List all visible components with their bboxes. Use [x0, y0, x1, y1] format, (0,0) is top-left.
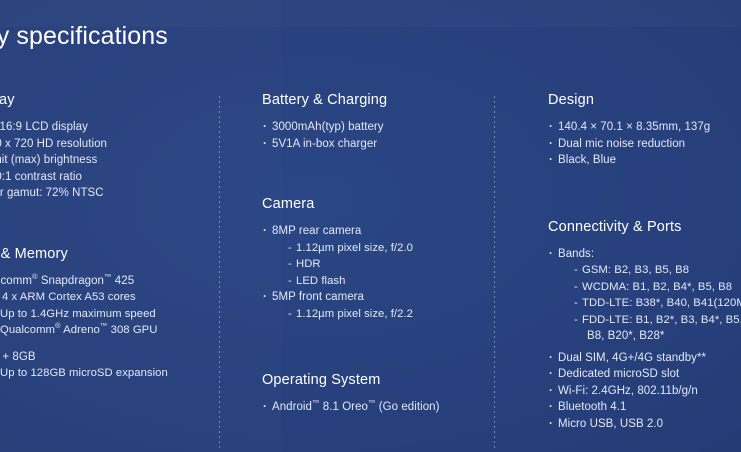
spec-list-chip-memory: Qualcomm® Snapdragon™ 425 4 x ARM Cortex… [0, 273, 212, 382]
specs-columns: Display 5.0" 16:9 LCD display 1280 x 720… [0, 0, 741, 452]
spec-list-design: 140.4 × 70.1 × 8.35mm, 137g Dual mic noi… [548, 119, 741, 169]
list-item: 4 x ARM Cortex A53 cores [0, 289, 212, 306]
spacer [0, 339, 212, 349]
spec-section-display: Display 5.0" 16:9 LCD display 1280 x 720… [0, 92, 212, 202]
section-heading: Operating System [262, 372, 490, 388]
list-item: Micro USB, USB 2.0 [548, 416, 741, 433]
list-item: Up to 1.4GHz maximum speed [0, 306, 212, 323]
section-heading: Display [0, 92, 212, 108]
section-heading: Chip & Memory [0, 246, 212, 262]
list-item: 5.0" 16:9 LCD display [0, 119, 212, 136]
spec-section-design: Design 140.4 × 70.1 × 8.35mm, 137g Dual … [548, 92, 741, 169]
list-item: HDR [262, 256, 490, 273]
list-item: 140.4 × 70.1 × 8.35mm, 137g [548, 119, 741, 136]
list-item: 5MP front camera [262, 289, 490, 306]
list-item: 1GB + 8GB [0, 349, 212, 366]
list-item: LED flash [262, 273, 490, 290]
list-item: 3000mAh(typ) battery [262, 119, 490, 136]
spec-section-operating-system: Operating System Android™ 8.1 Oreo™ (Go … [262, 372, 490, 416]
list-item: Dual SIM, 4G+/4G standby** [548, 350, 741, 367]
list-item: Qualcomm® Snapdragon™ 425 [0, 273, 212, 290]
spec-column-left: Display 5.0" 16:9 LCD display 1280 x 720… [0, 92, 212, 382]
list-item: 1280 x 720 HD resolution [0, 136, 212, 153]
list-item: 1000:1 contrast ratio [0, 169, 212, 186]
spec-list-camera: 8MP rear camera 1.12µm pixel size, f/2.0… [262, 223, 490, 322]
section-heading: Connectivity & Ports [548, 219, 741, 235]
spec-column-middle: Battery & Charging 3000mAh(typ) battery … [262, 92, 490, 416]
spec-list-battery: 3000mAh(typ) battery 5V1A in-box charger [262, 119, 490, 152]
list-item: GSM: B2, B3, B5, B8 [548, 262, 741, 279]
list-item: Bands: [548, 246, 741, 263]
list-item: FDD-LTE: B1, B2*, B3, B4*, B5, B7, [548, 312, 741, 329]
spec-section-connectivity-ports: Connectivity & Ports Bands: GSM: B2, B3,… [548, 219, 741, 433]
list-item: 5V1A in-box charger [262, 136, 490, 153]
list-item: Dual mic noise reduction [548, 136, 741, 153]
spec-section-chip-memory: Chip & Memory Qualcomm® Snapdragon™ 425 … [0, 246, 212, 382]
list-item: Wi-Fi: 2.4GHz, 802.11b/g/n [548, 383, 741, 400]
list-item: Bluetooth 4.1 [548, 399, 741, 416]
list-item: Dedicated microSD slot [548, 366, 741, 383]
list-item: Color gamut: 72% NTSC [0, 185, 212, 202]
list-item: Black, Blue [548, 152, 741, 169]
spec-section-camera: Camera 8MP rear camera 1.12µm pixel size… [262, 196, 490, 322]
list-item: B8, B20*, B28* [548, 328, 741, 345]
spec-list-connectivity: Bands: GSM: B2, B3, B5, B8 WCDMA: B1, B2… [548, 246, 741, 433]
spec-list-display: 5.0" 16:9 LCD display 1280 x 720 HD reso… [0, 119, 212, 202]
list-item: Qualcomm® Adreno™ 308 GPU [0, 322, 212, 339]
section-heading: Battery & Charging [262, 92, 490, 108]
section-heading: Camera [262, 196, 490, 212]
list-item: Up to 128GB microSD expansion [0, 365, 212, 382]
list-item: 1.12µm pixel size, f/2.2 [262, 306, 490, 323]
spec-column-right: Design 140.4 × 70.1 × 8.35mm, 137g Dual … [548, 92, 741, 432]
spec-list-os: Android™ 8.1 Oreo™ (Go edition) [262, 399, 490, 416]
section-heading: Design [548, 92, 741, 108]
list-item: 1.12µm pixel size, f/2.0 [262, 240, 490, 257]
list-item: WCDMA: B1, B2, B4*, B5, B8 [548, 279, 741, 296]
list-item: TDD-LTE: B38*, B40, B41(120MHz) [548, 295, 741, 312]
specifications-slide: Key specifications Display 5.0" 16:9 LCD… [0, 0, 741, 452]
list-item: 8MP rear camera [262, 223, 490, 240]
spec-section-battery-charging: Battery & Charging 3000mAh(typ) battery … [262, 92, 490, 152]
list-item: Android™ 8.1 Oreo™ (Go edition) [262, 399, 490, 416]
list-item: 480nit (max) brightness [0, 152, 212, 169]
